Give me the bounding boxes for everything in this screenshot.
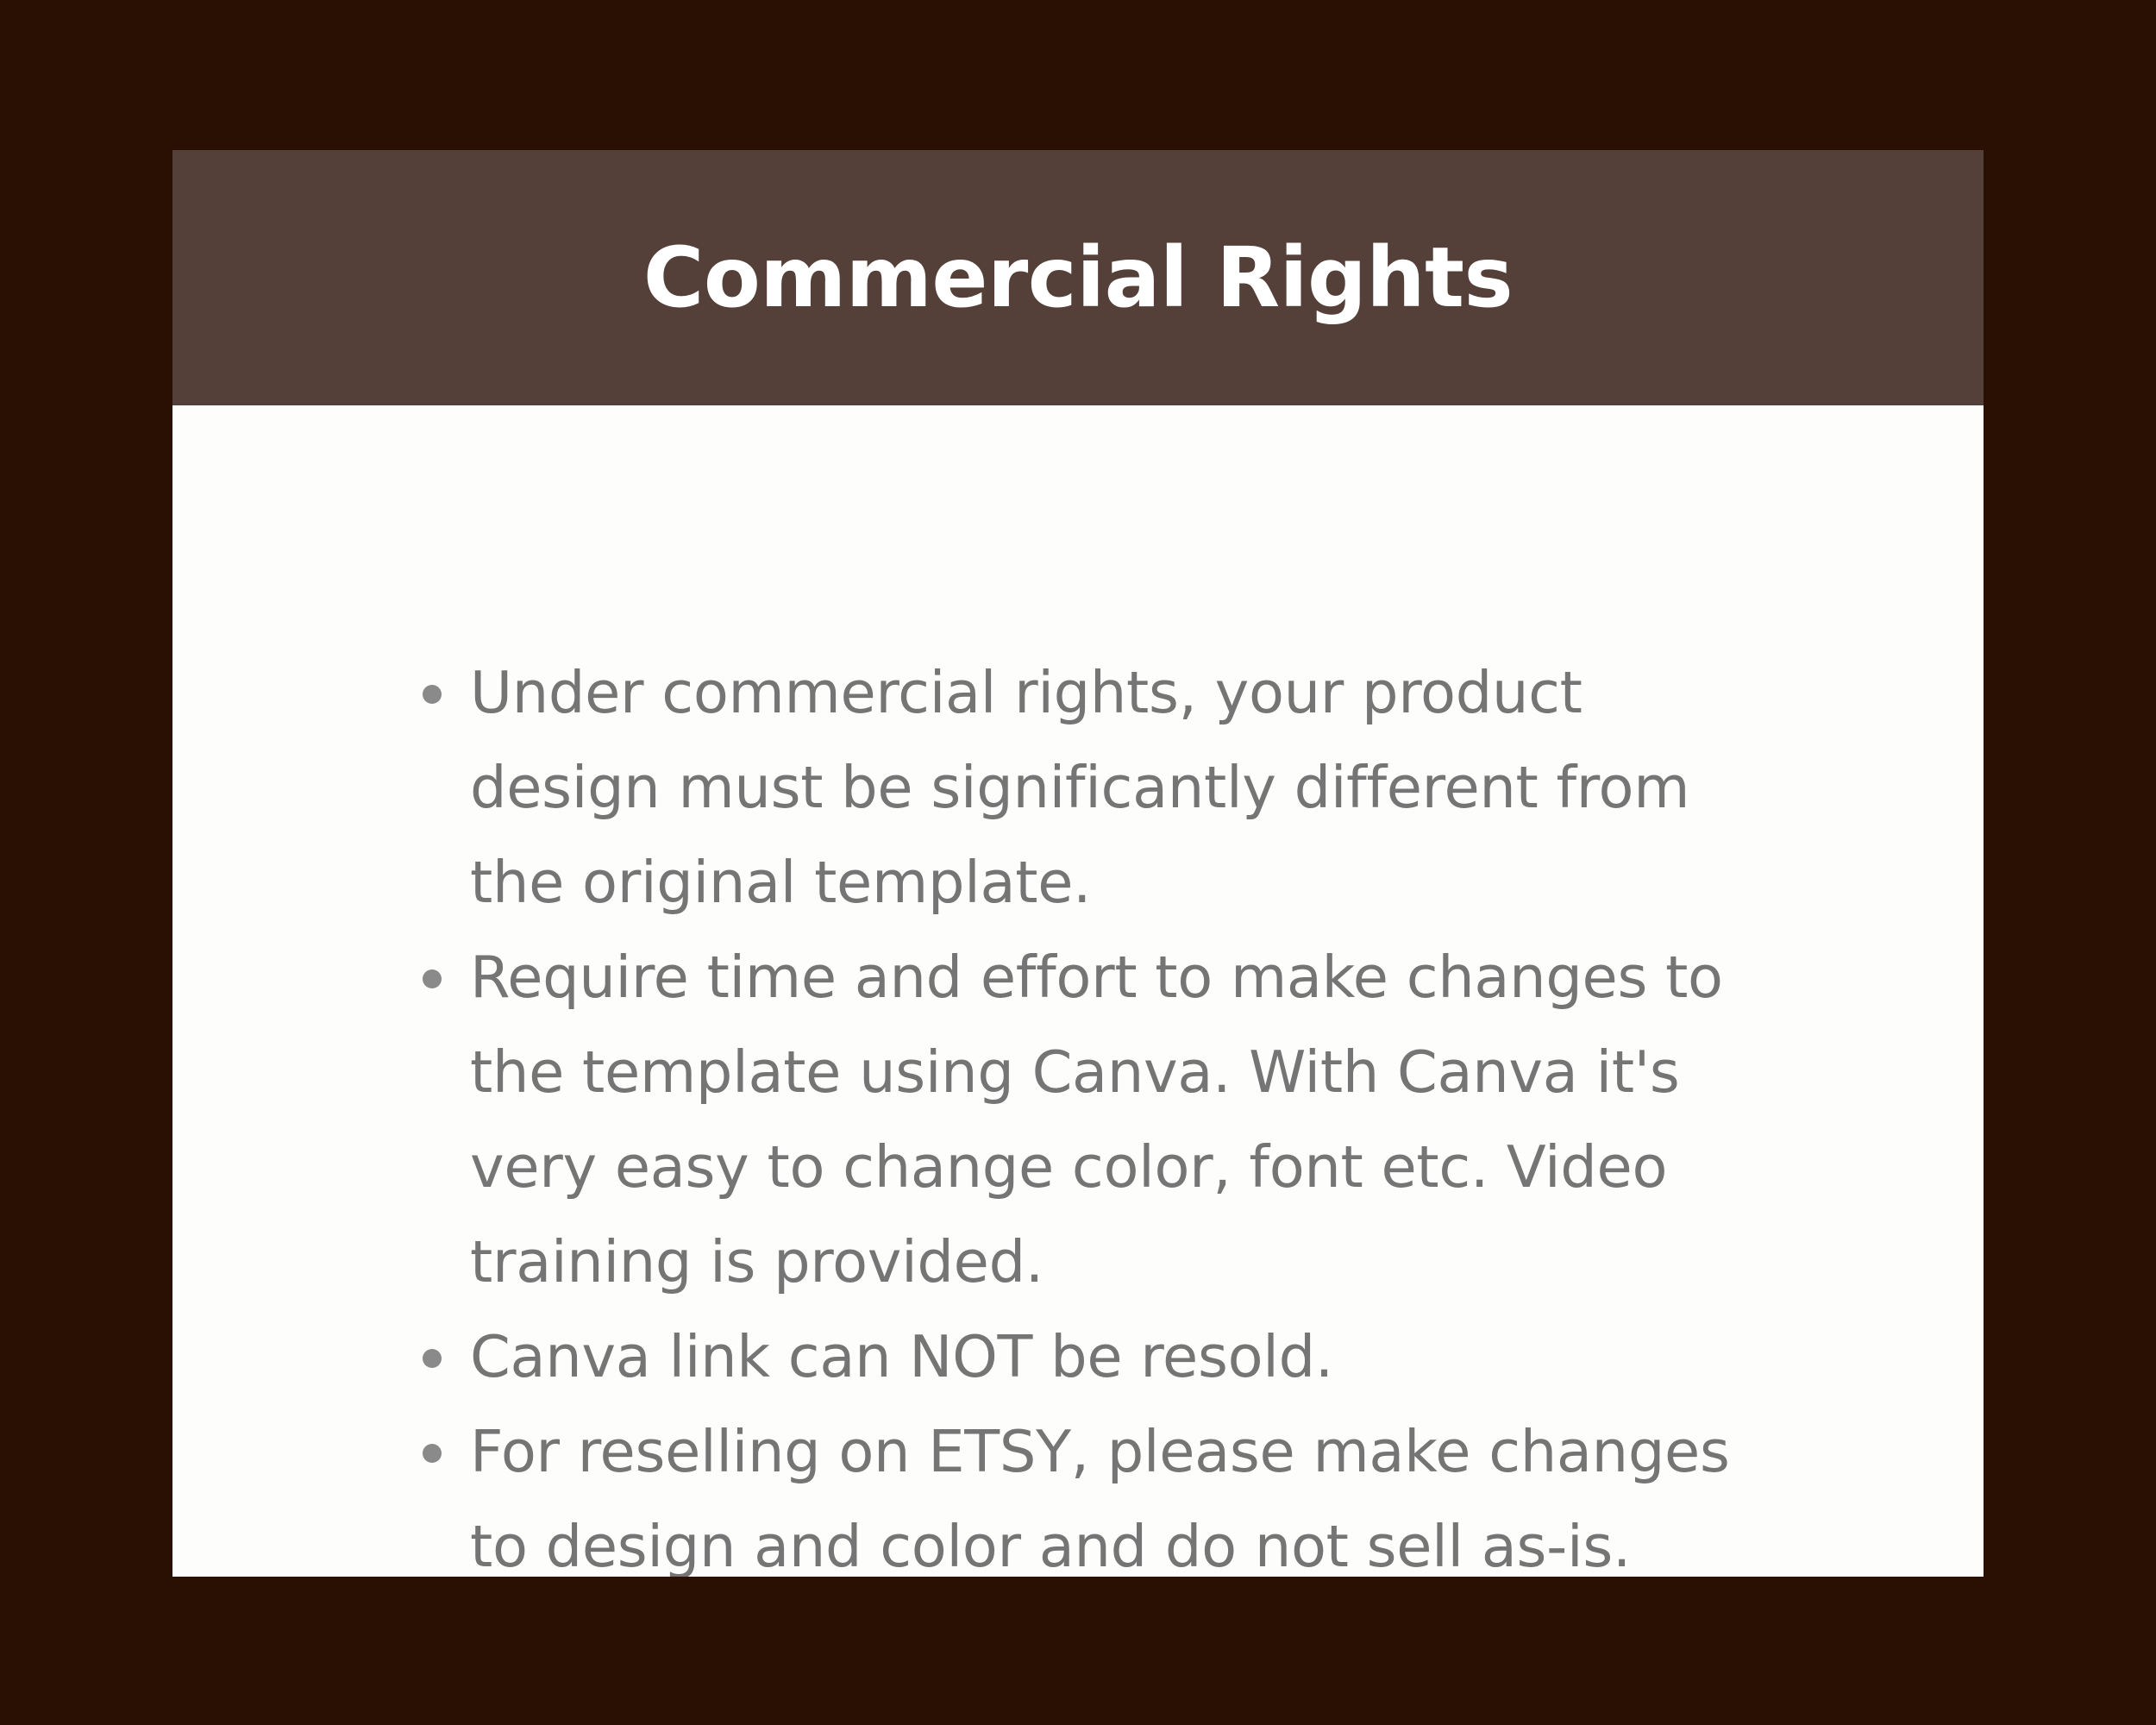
list-item: Require time and effort to make changes … [423,930,1768,1309]
page-title: Commercial Rights [643,236,1513,319]
commercial-rights-bullet-list: Under commercial rights, your product de… [423,645,1768,1577]
list-item-text: Under commercial rights, your product de… [470,645,1768,930]
card-body: Under commercial rights, your product de… [172,405,1984,1577]
bullet-dot-icon [423,685,442,704]
list-item: Canva link can NOT be resold. [423,1309,1768,1404]
slide-canvas: Commercial Rights Under commercial right… [0,0,2156,1725]
bullet-dot-icon [423,969,442,988]
commercial-rights-card: Commercial Rights Under commercial right… [172,150,1984,1577]
list-item: For reselling on ETSY, please make chang… [423,1404,1768,1577]
bullet-dot-icon [423,1349,442,1368]
list-item: Under commercial rights, your product de… [423,645,1768,930]
card-header-band: Commercial Rights [172,150,1984,405]
list-item-text: For reselling on ETSY, please make chang… [470,1404,1768,1577]
bullet-dot-icon [423,1444,442,1463]
list-item-text: Require time and effort to make changes … [470,930,1768,1309]
list-item-text: Canva link can NOT be resold. [470,1309,1768,1404]
